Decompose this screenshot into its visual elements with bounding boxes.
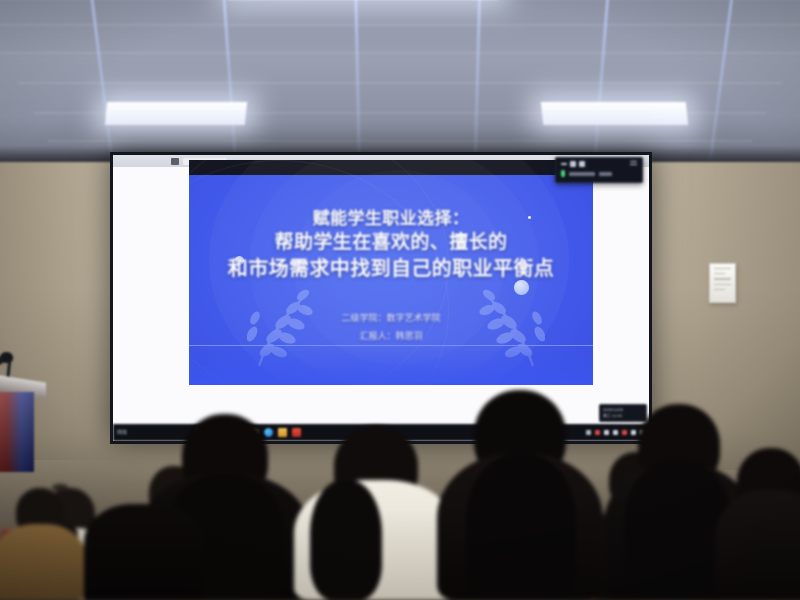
wall-notice-sign bbox=[709, 263, 736, 303]
presentation-room-photo: 赋能学生职业选择： 帮助学生在喜欢的、擅长的 和市场需求中找到自己的职业平衡点 … bbox=[0, 0, 800, 600]
slide-title-line-3: 和市场需求中找到自己的职业平衡点 bbox=[189, 255, 593, 281]
meeting-toolbar-overlay[interactable] bbox=[555, 157, 643, 183]
menu-icon[interactable] bbox=[630, 161, 637, 167]
audience bbox=[0, 340, 800, 600]
window-icon[interactable] bbox=[579, 161, 585, 167]
mic-on-icon[interactable] bbox=[561, 170, 565, 177]
audience-member bbox=[292, 422, 460, 600]
slide-title: 赋能学生职业选择： 帮助学生在喜欢的、擅长的 和市场需求中找到自己的职业平衡点 bbox=[189, 208, 593, 281]
meeting-secondary-text bbox=[599, 172, 612, 176]
minimize-icon[interactable] bbox=[561, 163, 567, 165]
audience-member bbox=[716, 430, 800, 600]
ceiling-grid bbox=[0, 0, 800, 162]
audience-member bbox=[84, 504, 204, 600]
slide-accent-circle-right bbox=[514, 280, 529, 295]
slide-subtitle-line-1: 二级学院：数字艺术学院 bbox=[189, 310, 593, 328]
audience-member bbox=[0, 474, 86, 600]
ceiling-light-panel-right bbox=[541, 102, 688, 125]
slide-title-line-1: 赋能学生职业选择： bbox=[189, 208, 593, 230]
audience-member bbox=[436, 390, 604, 600]
ceiling-light-panel-left bbox=[105, 102, 247, 125]
meeting-status-text bbox=[569, 172, 595, 176]
slide-title-line-2: 帮助学生在喜欢的、擅长的 bbox=[189, 230, 593, 255]
restore-icon[interactable] bbox=[570, 161, 576, 167]
page-icon bbox=[171, 158, 179, 165]
